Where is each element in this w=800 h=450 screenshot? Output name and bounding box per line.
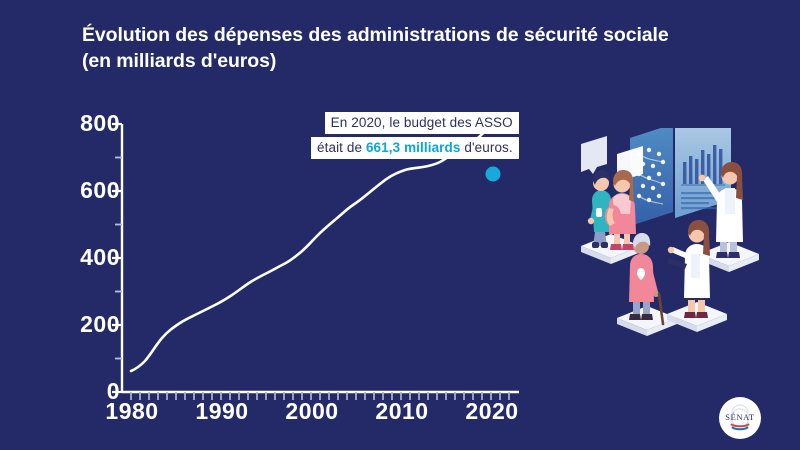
annotation-suffix: d'euros.: [461, 140, 513, 155]
y-tick-label-200: 200: [62, 311, 120, 338]
chart-endpoint-marker: [486, 167, 501, 182]
chart-annotation-callout: En 2020, le budget des ASSO était de 661…: [311, 112, 519, 159]
x-tick-label-2000: 2000: [270, 398, 354, 425]
annotation-prefix: était de: [317, 140, 366, 155]
y-tick-label-600: 600: [62, 177, 120, 204]
senat-logo: SÉNAT: [718, 396, 762, 440]
x-tick-label-2010: 2010: [360, 398, 444, 425]
y-tick-label-400: 400: [62, 244, 120, 271]
speech-bubble-left: [581, 136, 607, 174]
infographic-slide: Évolution des dépenses des administratio…: [0, 0, 800, 450]
x-tick-label-2020: 2020: [450, 398, 534, 425]
figure-doctor-front: [667, 220, 710, 318]
chart-line-series: [131, 122, 493, 371]
annotation-value: 661,3 milliards: [366, 140, 461, 155]
chart-axes: [122, 124, 519, 392]
x-tick-label-1980: 1980: [90, 398, 174, 425]
x-tick-label-1990: 1990: [180, 398, 264, 425]
figure-elderly-cane: [629, 233, 663, 324]
annotation-line-2: était de 661,3 milliards d'euros.: [311, 137, 519, 159]
annotation-line-1: En 2020, le budget des ASSO: [325, 112, 519, 134]
y-tick-label-800: 800: [62, 110, 120, 137]
senat-logo-text: SÉNAT: [725, 412, 755, 422]
isometric-healthcare-illustration: [575, 128, 790, 356]
hologram-screen-dna: [630, 128, 673, 226]
